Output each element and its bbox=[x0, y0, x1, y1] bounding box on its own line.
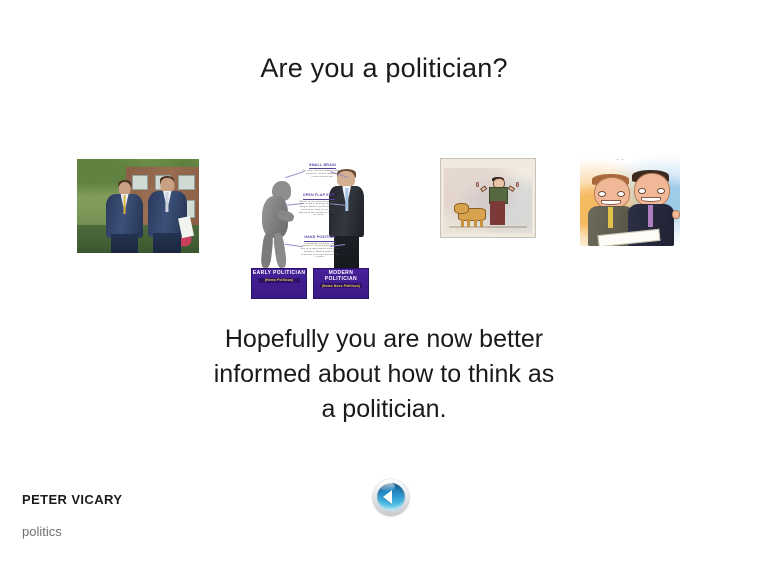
body-line-2: informed about how to think as bbox=[0, 357, 768, 392]
footer-author: PETER VICARY bbox=[22, 492, 122, 507]
image-evolution-infographic: SMALL BRAIN For once, decision making wi… bbox=[247, 155, 373, 300]
image-folk-drawing bbox=[440, 158, 536, 238]
page-title: Are you a politician? bbox=[0, 52, 768, 84]
signature-scribble: ~ ~ bbox=[616, 158, 650, 166]
waving-hand bbox=[672, 210, 680, 219]
annotation-open-flap-ear: OPEN FLAP EAR Which, as for early develo… bbox=[299, 194, 339, 217]
early-politician-figure bbox=[256, 175, 298, 268]
footer-subject: politics bbox=[22, 524, 62, 539]
label-latin: (Homo Novo Politicus) bbox=[320, 283, 362, 288]
annotation-small-brain: SMALL BRAIN For once, decision making wi… bbox=[302, 164, 342, 179]
image-strip: SMALL BRAIN For once, decision making wi… bbox=[0, 148, 768, 298]
annotation-heading: HAND POSITION bbox=[304, 236, 335, 241]
body-line-1: Hopefully you are now better bbox=[0, 322, 768, 357]
body-text: Hopefully you are now better informed ab… bbox=[0, 322, 768, 427]
image-caricature: ~ ~ bbox=[580, 150, 680, 246]
label-latin: (Homo Politicus) bbox=[258, 278, 300, 283]
label-title: MODERN POLITICIAN bbox=[314, 271, 369, 282]
label-title: EARLY POLITICIAN bbox=[252, 271, 307, 277]
annotation-heading: SMALL BRAIN bbox=[309, 164, 336, 169]
annotation-body: Which, as for early development, was to … bbox=[299, 201, 339, 218]
image-politicians-walking bbox=[77, 159, 199, 253]
aged-paper bbox=[444, 168, 532, 233]
label-modern-politician: MODERN POLITICIAN (Homo Novo Politicus) bbox=[313, 268, 370, 298]
drawn-man-figure bbox=[486, 178, 509, 226]
body-line-3: a politician. bbox=[0, 392, 768, 427]
annotation-body: is outwardly raised for good reason at. … bbox=[300, 243, 340, 260]
label-early-politician: EARLY POLITICIAN (Homo Politicus) bbox=[251, 268, 308, 298]
back-button[interactable] bbox=[373, 479, 409, 515]
annotation-heading: OPEN FLAP EAR bbox=[303, 194, 335, 199]
triangle-left-icon bbox=[383, 490, 392, 504]
politician-figure-right bbox=[148, 178, 187, 253]
annotation-hand-position: HAND POSITION is outwardly raised for go… bbox=[300, 236, 340, 259]
drawn-dog-figure bbox=[456, 202, 488, 225]
politician-figure-left bbox=[106, 182, 143, 253]
presentation-slide: Are you a politician? bbox=[0, 0, 768, 561]
annotation-body: For once, decision making without consci… bbox=[302, 170, 342, 178]
